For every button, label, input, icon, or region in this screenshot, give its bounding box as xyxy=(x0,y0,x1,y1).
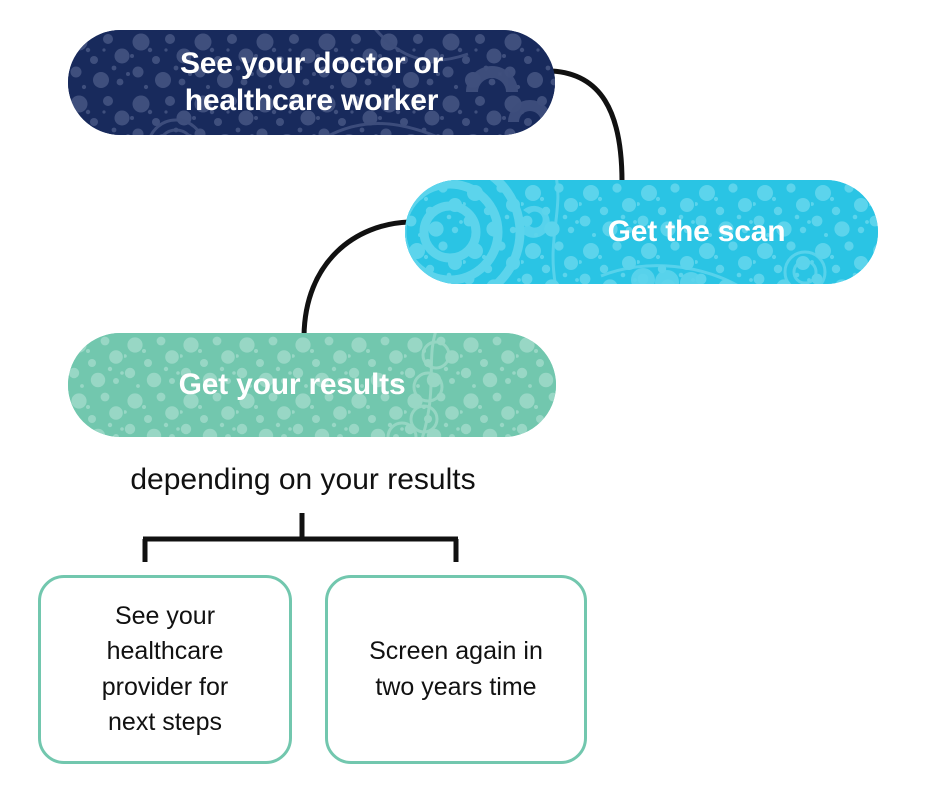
step-get-your-results-label: Get your results xyxy=(179,367,406,404)
outcome-see-healthcare-provider-label: See your healthcare provider for next st… xyxy=(102,599,228,741)
flowchart-stage: See your doctor or healthcare worker xyxy=(0,0,940,788)
outcome-screen-again-label: Screen again in two years time xyxy=(369,634,543,705)
step-get-the-scan-label: Get the scan xyxy=(608,214,786,251)
outcome-see-healthcare-provider[interactable]: See your healthcare provider for next st… xyxy=(38,575,292,764)
connector-curve-1 xyxy=(552,71,622,182)
connector-curve-2 xyxy=(304,222,409,336)
step-see-your-doctor-label: See your doctor or healthcare worker xyxy=(180,46,443,119)
pathway-caption: depending on your results xyxy=(68,462,538,498)
step-see-your-doctor[interactable]: See your doctor or healthcare worker xyxy=(68,30,555,135)
step-get-your-results[interactable]: Get your results xyxy=(68,333,556,437)
outcome-screen-again[interactable]: Screen again in two years time xyxy=(325,575,587,764)
step-get-the-scan[interactable]: Get the scan xyxy=(405,180,878,284)
connector-fork xyxy=(143,513,458,562)
